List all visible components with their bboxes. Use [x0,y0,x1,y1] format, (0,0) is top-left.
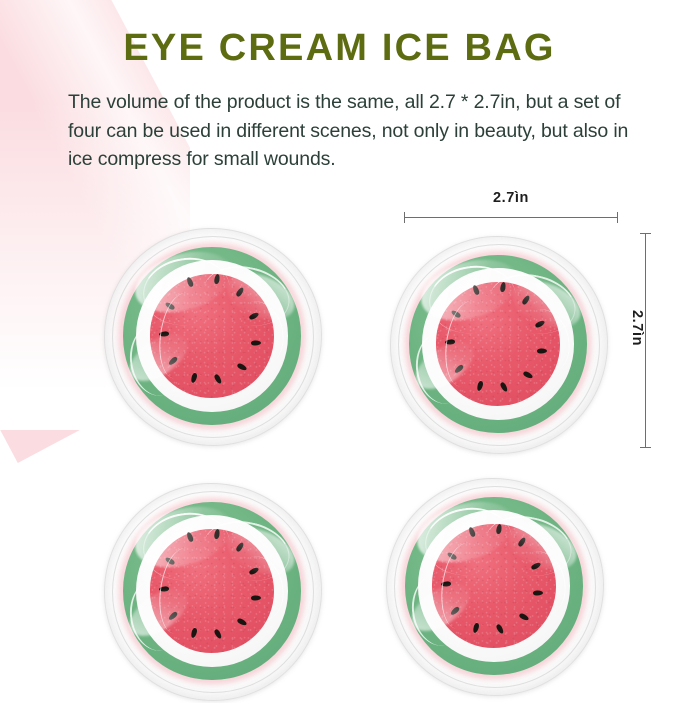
ice-pack-top-left [104,228,320,444]
height-dimension-label: 2.7ìn [629,310,645,346]
width-dimension-label: 2.7ìn [404,190,618,206]
height-dimension-line [645,233,646,448]
ice-pack-bottom-right [386,478,602,694]
page-subtitle: The volume of the product is the same, a… [68,88,644,174]
ice-pack-top-right [390,236,606,452]
ice-pack-bottom-left [104,483,320,699]
width-dimension-line [404,217,618,218]
page-title: EYE CREAM ICE BAG [0,27,679,70]
product-infographic: EYE CREAM ICE BAG The volume of the prod… [0,0,679,703]
